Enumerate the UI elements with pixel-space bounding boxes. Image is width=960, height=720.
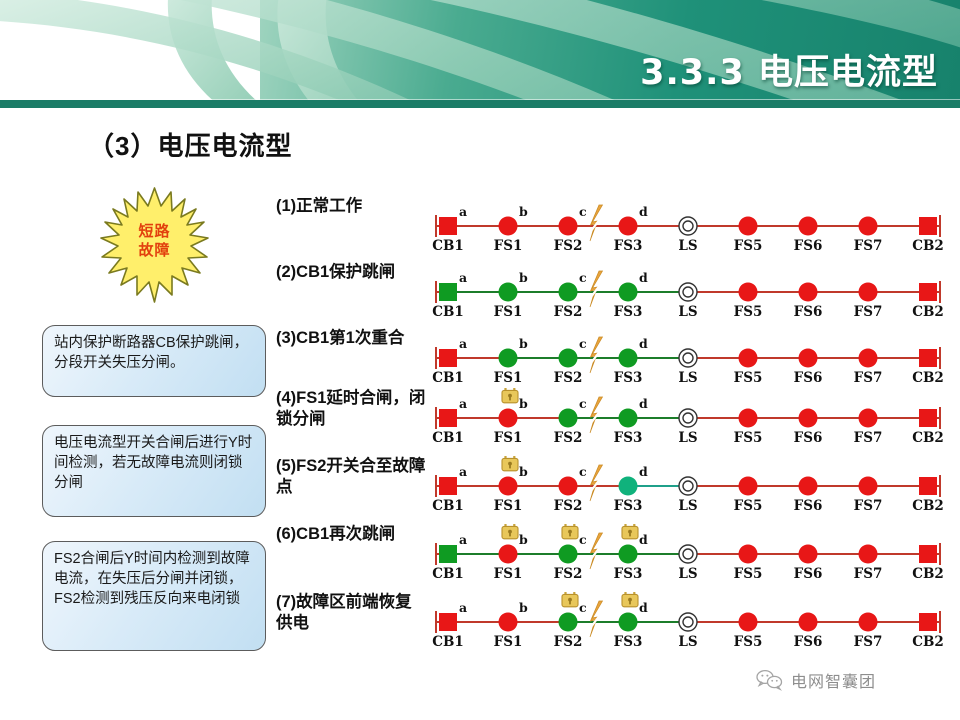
svg-text:d: d: [639, 336, 648, 351]
svg-text:FS2: FS2: [554, 238, 583, 254]
svg-text:b: b: [519, 464, 528, 479]
svg-text:CB1: CB1: [432, 566, 464, 582]
svg-text:CB1: CB1: [432, 238, 464, 254]
feeder-row-label-3: (3)CB1第1次重合: [276, 328, 426, 349]
feeder-row-label-1: (1)正常工作: [276, 196, 426, 217]
svg-text:FS5: FS5: [734, 430, 763, 446]
svg-text:FS5: FS5: [734, 370, 763, 386]
feeder-schematic-1: aCB1bFS1cFS2dFS3LSFS5FS6FS7CB2: [428, 196, 948, 258]
feeder-row-4: (4)FS1延时合闸，闭锁分闸aCB1bFS1cFS2dFS3LSFS5FS6F…: [276, 388, 948, 450]
fault-starburst: 短路 故障: [92, 186, 217, 311]
starburst-line-1: 短路: [92, 222, 217, 241]
svg-text:FS6: FS6: [794, 430, 823, 446]
callout-box-1: 站内保护断路器CB保护跳闸，分段开关失压分闸。: [42, 325, 266, 397]
callout-box-3: FS2合闸后Y时间内检测到故障电流，在失压后分闸并闭锁，FS2检测到残压反向来电…: [42, 541, 266, 651]
svg-text:FS2: FS2: [554, 498, 583, 514]
svg-text:FS7: FS7: [854, 238, 883, 254]
svg-text:FS1: FS1: [494, 634, 523, 650]
svg-text:CB1: CB1: [432, 370, 464, 386]
svg-text:c: c: [579, 204, 587, 219]
svg-text:FS1: FS1: [494, 498, 523, 514]
svg-text:FS7: FS7: [854, 498, 883, 514]
starburst-text: 短路 故障: [92, 222, 217, 260]
svg-text:FS3: FS3: [614, 634, 643, 650]
svg-text:FS6: FS6: [794, 498, 823, 514]
feeder-row-label-4: (4)FS1延时合闸，闭锁分闸: [276, 388, 426, 430]
svg-text:c: c: [579, 600, 587, 615]
svg-text:d: d: [639, 532, 648, 547]
svg-text:LS: LS: [678, 304, 697, 320]
svg-text:FS3: FS3: [614, 304, 643, 320]
svg-text:a: a: [459, 396, 467, 411]
svg-text:b: b: [519, 270, 528, 285]
svg-text:LS: LS: [678, 430, 697, 446]
svg-text:a: a: [459, 336, 467, 351]
watermark: 电网智囊团: [756, 668, 876, 692]
svg-text:FS1: FS1: [494, 370, 523, 386]
feeder-row-label-6: (6)CB1再次跳闸: [276, 524, 426, 545]
svg-text:c: c: [579, 464, 587, 479]
wechat-icon: [756, 669, 784, 691]
svg-text:FS3: FS3: [614, 498, 643, 514]
svg-text:FS2: FS2: [554, 304, 583, 320]
feeder-schematic-3: aCB1bFS1cFS2dFS3LSFS5FS6FS7CB2: [428, 328, 948, 390]
svg-text:CB1: CB1: [432, 634, 464, 650]
feeder-row-5: (5)FS2开关合至故障点aCB1bFS1cFS2dFS3LSFS5FS6FS7…: [276, 456, 948, 518]
svg-text:FS2: FS2: [554, 634, 583, 650]
svg-text:a: a: [459, 204, 467, 219]
svg-text:a: a: [459, 270, 467, 285]
svg-text:FS7: FS7: [854, 304, 883, 320]
header-divider: [0, 100, 960, 108]
svg-text:CB1: CB1: [432, 430, 464, 446]
svg-text:c: c: [579, 532, 587, 547]
svg-text:a: a: [459, 532, 467, 547]
svg-text:FS5: FS5: [734, 238, 763, 254]
svg-text:LS: LS: [678, 634, 697, 650]
svg-text:FS1: FS1: [494, 430, 523, 446]
feeder-row-2: (2)CB1保护跳闸aCB1bFS1cFS2dFS3LSFS5FS6FS7CB2: [276, 262, 948, 324]
svg-text:FS3: FS3: [614, 566, 643, 582]
svg-text:c: c: [579, 270, 587, 285]
svg-text:FS1: FS1: [494, 304, 523, 320]
svg-text:d: d: [639, 396, 648, 411]
svg-text:FS2: FS2: [554, 566, 583, 582]
svg-text:c: c: [579, 336, 587, 351]
svg-text:a: a: [459, 464, 467, 479]
feeder-row-label-7: (7)故障区前端恢复供电: [276, 592, 426, 634]
svg-text:FS6: FS6: [794, 238, 823, 254]
feeder-schematic-2: aCB1bFS1cFS2dFS3LSFS5FS6FS7CB2: [428, 262, 948, 324]
svg-text:LS: LS: [678, 566, 697, 582]
feeder-row-label-5: (5)FS2开关合至故障点: [276, 456, 426, 498]
svg-text:FS5: FS5: [734, 498, 763, 514]
svg-text:FS2: FS2: [554, 430, 583, 446]
feeder-row-1: (1)正常工作aCB1bFS1cFS2dFS3LSFS5FS6FS7CB2: [276, 196, 948, 258]
slide-header: 3.3.3 电压电流型: [0, 0, 960, 110]
svg-text:FS6: FS6: [794, 304, 823, 320]
svg-text:CB2: CB2: [912, 304, 944, 320]
starburst-line-2: 故障: [92, 241, 217, 260]
feeder-row-6: (6)CB1再次跳闸aCB1bFS1cFS2dFS3LSFS5FS6FS7CB2: [276, 524, 948, 586]
feeder-row-label-2: (2)CB1保护跳闸: [276, 262, 426, 283]
svg-text:FS7: FS7: [854, 566, 883, 582]
svg-text:b: b: [519, 600, 528, 615]
watermark-label: 电网智囊团: [791, 668, 876, 692]
feeder-schematic-4: aCB1bFS1cFS2dFS3LSFS5FS6FS7CB2: [428, 388, 948, 450]
feeder-schematic-7: aCB1bFS1cFS2dFS3LSFS5FS6FS7CB2: [428, 592, 948, 654]
svg-text:FS5: FS5: [734, 304, 763, 320]
svg-text:CB2: CB2: [912, 238, 944, 254]
svg-text:d: d: [639, 204, 648, 219]
svg-text:FS2: FS2: [554, 370, 583, 386]
svg-text:CB1: CB1: [432, 304, 464, 320]
svg-text:FS3: FS3: [614, 370, 643, 386]
svg-text:LS: LS: [678, 370, 697, 386]
svg-text:FS7: FS7: [854, 430, 883, 446]
svg-text:LS: LS: [678, 238, 697, 254]
page-title: 3.3.3 电压电流型: [640, 44, 938, 95]
feeder-schematic-5: aCB1bFS1cFS2dFS3LSFS5FS6FS7CB2: [428, 456, 948, 518]
svg-text:CB1: CB1: [432, 498, 464, 514]
svg-text:d: d: [639, 270, 648, 285]
svg-text:FS3: FS3: [614, 430, 643, 446]
feeder-row-3: (3)CB1第1次重合aCB1bFS1cFS2dFS3LSFS5FS6FS7CB…: [276, 328, 948, 390]
svg-text:FS3: FS3: [614, 238, 643, 254]
svg-text:b: b: [519, 336, 528, 351]
svg-text:CB2: CB2: [912, 430, 944, 446]
svg-text:FS7: FS7: [854, 370, 883, 386]
svg-text:CB2: CB2: [912, 566, 944, 582]
svg-text:FS5: FS5: [734, 634, 763, 650]
svg-text:d: d: [639, 464, 648, 479]
svg-text:FS5: FS5: [734, 566, 763, 582]
svg-text:a: a: [459, 600, 467, 615]
svg-text:CB2: CB2: [912, 498, 944, 514]
svg-text:FS6: FS6: [794, 634, 823, 650]
svg-text:FS6: FS6: [794, 370, 823, 386]
svg-text:FS1: FS1: [494, 566, 523, 582]
svg-text:b: b: [519, 396, 528, 411]
svg-text:FS6: FS6: [794, 566, 823, 582]
svg-text:c: c: [579, 396, 587, 411]
feeder-schematic-6: aCB1bFS1cFS2dFS3LSFS5FS6FS7CB2: [428, 524, 948, 586]
svg-text:d: d: [639, 600, 648, 615]
svg-text:CB2: CB2: [912, 634, 944, 650]
svg-text:b: b: [519, 204, 528, 219]
svg-text:FS1: FS1: [494, 238, 523, 254]
feeder-row-7: (7)故障区前端恢复供电aCB1bFS1cFS2dFS3LSFS5FS6FS7C…: [276, 592, 948, 654]
section-title: （3）电压电流型: [88, 126, 292, 163]
callout-box-2: 电压电流型开关合闸后进行Y时间检测，若无故障电流则闭锁分闸: [42, 425, 266, 517]
svg-text:LS: LS: [678, 498, 697, 514]
svg-text:FS7: FS7: [854, 634, 883, 650]
svg-text:b: b: [519, 532, 528, 547]
svg-text:CB2: CB2: [912, 370, 944, 386]
